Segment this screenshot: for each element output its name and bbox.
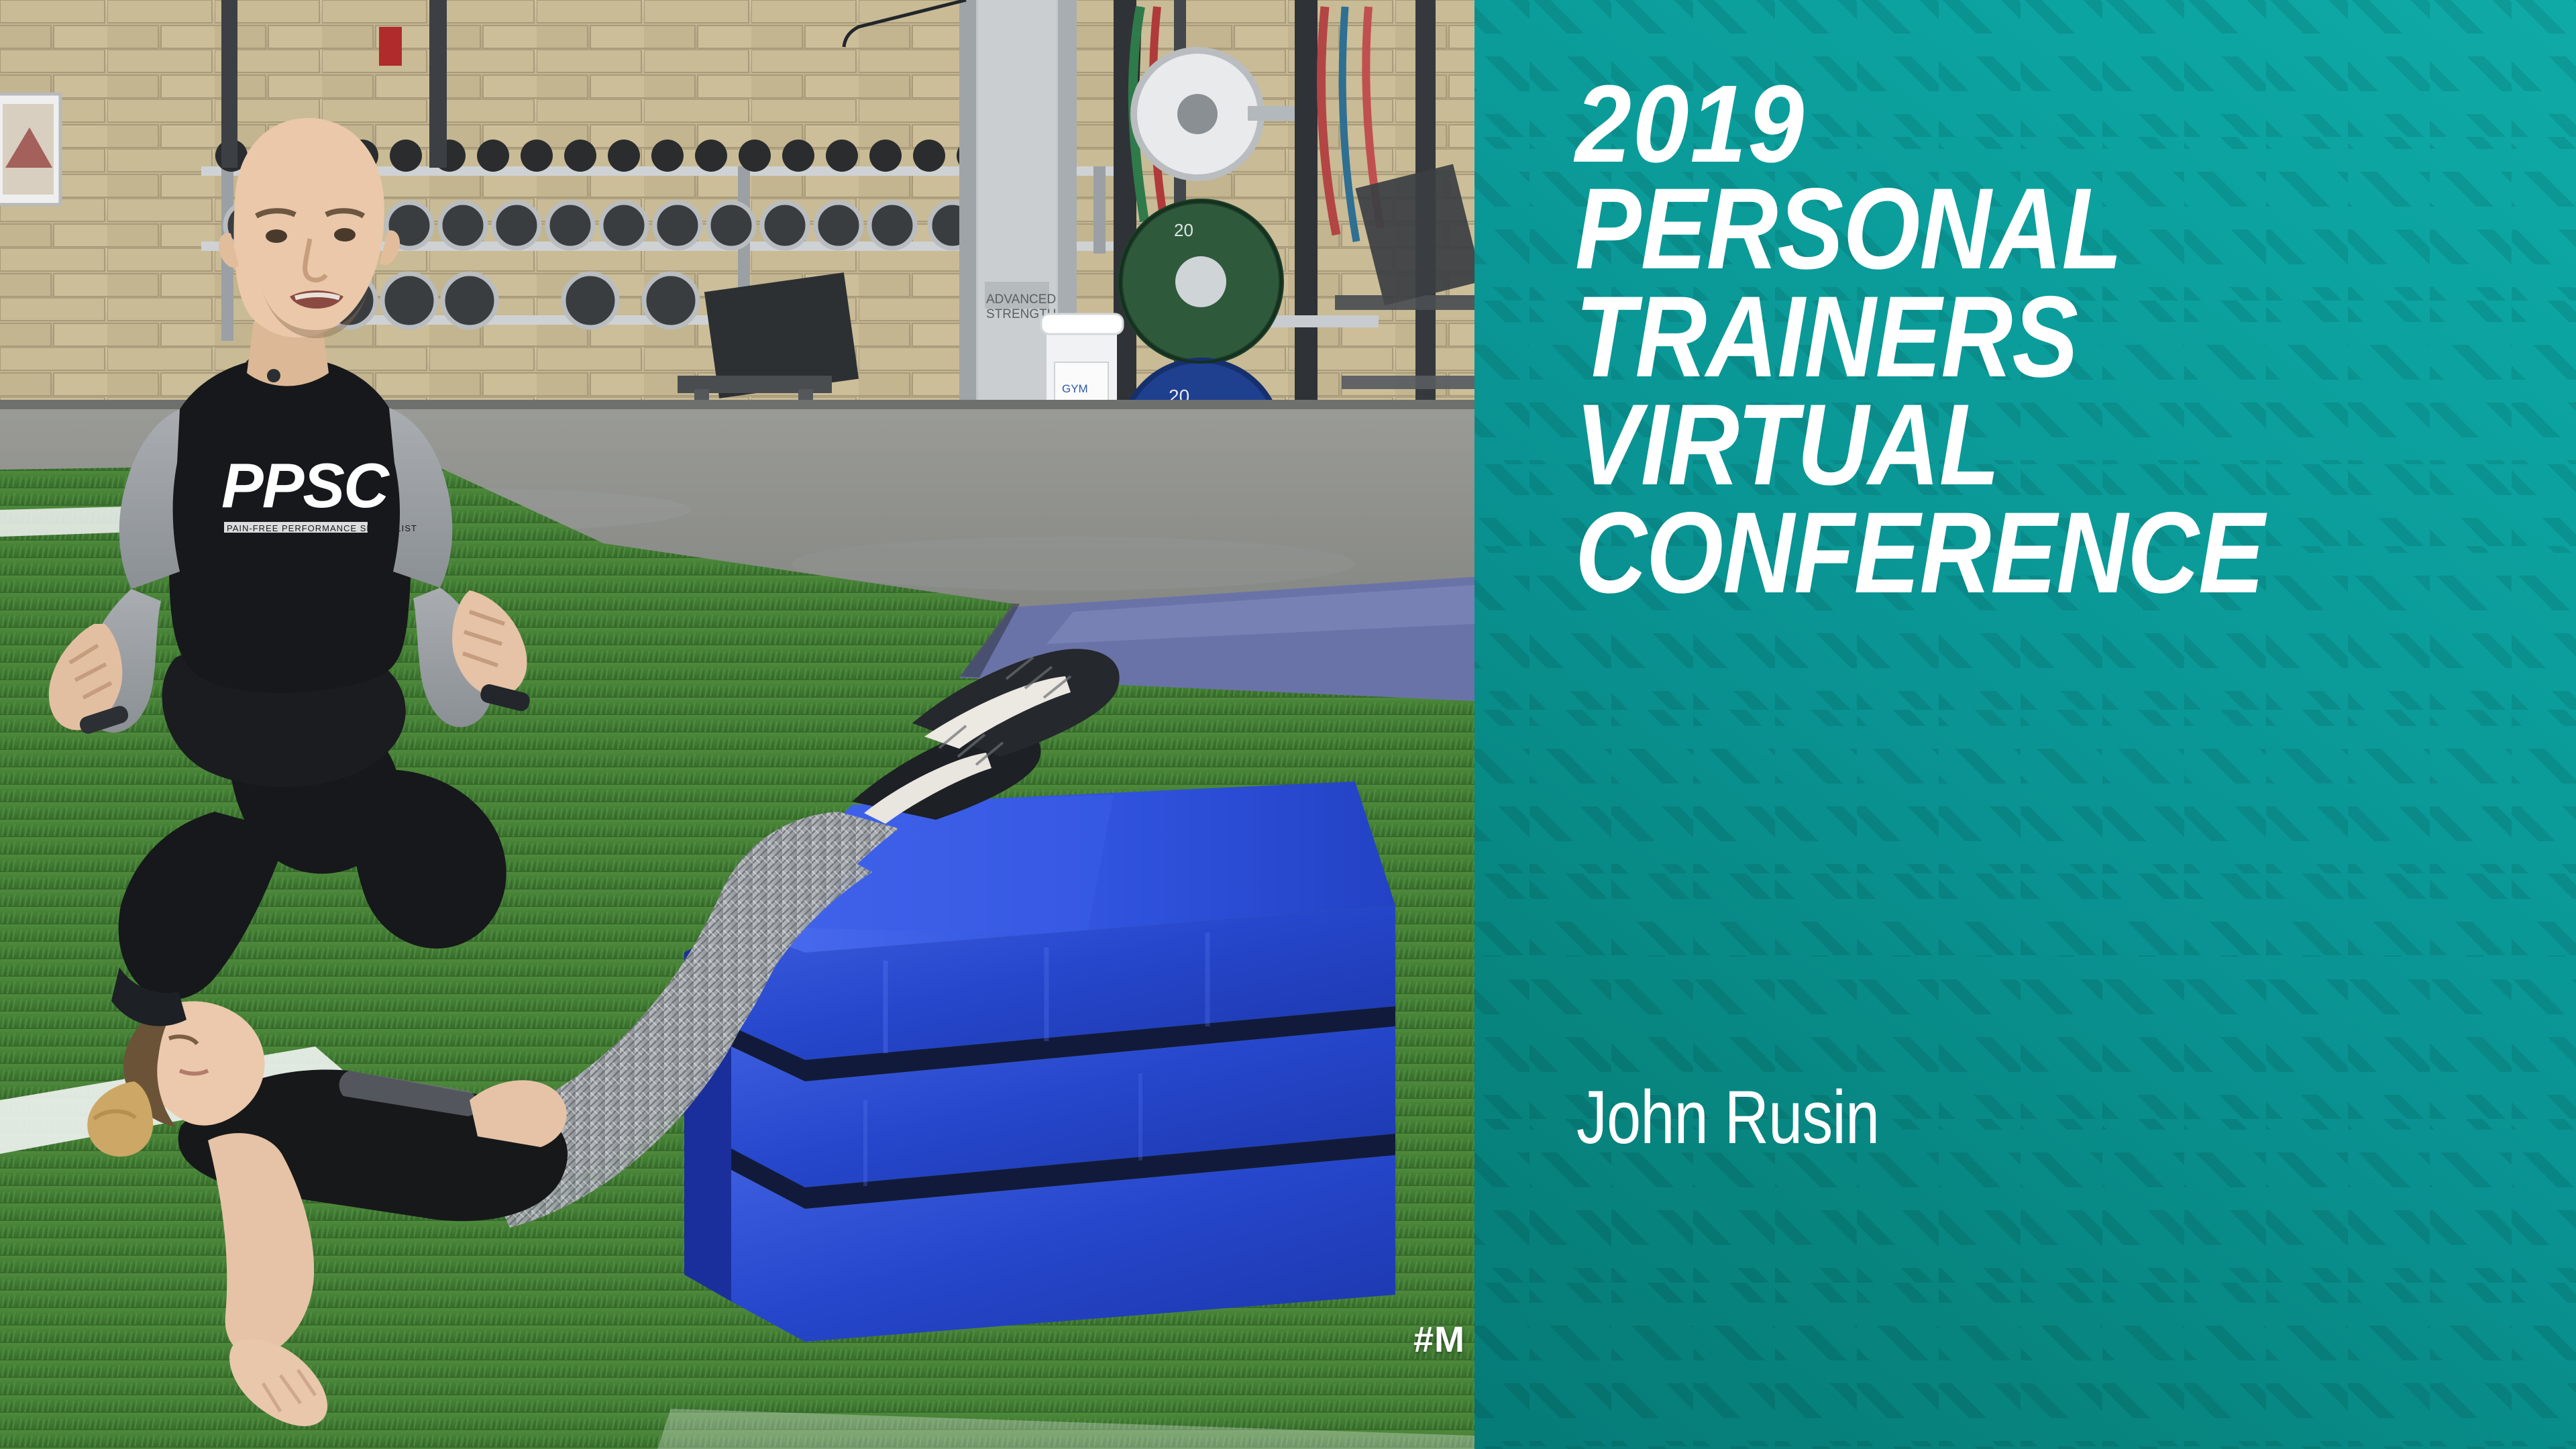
title-line-3: VIRTUAL: [1575, 391, 2394, 499]
title-line-year: 2019: [1575, 72, 2451, 175]
title-line-4: CONFERENCE: [1575, 499, 2394, 607]
title-panel: 2019 PERSONAL TRAINERS VIRTUAL CONFERENC…: [1474, 0, 2576, 1449]
conference-title-card: ADVANCED STRENGTH: [0, 0, 2576, 1449]
svg-text:ADVANCED: ADVANCED: [986, 292, 1056, 307]
page-title: 2019 PERSONAL TRAINERS VIRTUAL CONFERENC…: [1575, 72, 2528, 607]
svg-text:GYM: GYM: [1062, 382, 1088, 395]
svg-text:20: 20: [1174, 220, 1193, 240]
title-line-1: PERSONAL: [1575, 175, 2394, 283]
photo-watermark: #M: [1413, 1319, 1465, 1360]
svg-text:PAIN-FREE PERFORMANCE SPECIALI: PAIN-FREE PERFORMANCE SPECIALIST: [227, 523, 417, 533]
gym-photo: ADVANCED STRENGTH: [0, 0, 1474, 1449]
svg-text:PPSC: PPSC: [221, 450, 390, 521]
gym-photo-illustration: ADVANCED STRENGTH: [0, 0, 1474, 1449]
title-line-2: TRAINERS: [1575, 283, 2394, 391]
speaker-name: John Rusin: [1576, 1080, 1879, 1155]
